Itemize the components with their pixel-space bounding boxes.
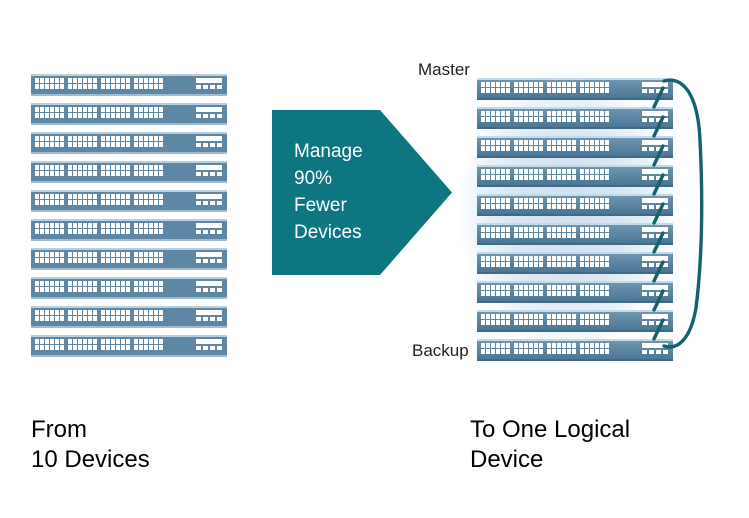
switch-port	[539, 291, 543, 296]
switch-port	[552, 320, 556, 325]
switch-port	[572, 169, 576, 174]
switch-port	[149, 223, 153, 228]
switch-port	[539, 111, 543, 116]
switch-port	[580, 140, 584, 145]
switch-port	[547, 262, 551, 267]
switch-port	[501, 262, 505, 267]
switch-port-group	[35, 339, 64, 350]
switch-port	[55, 345, 59, 350]
caption-from-10-devices: From 10 Devices	[31, 415, 150, 475]
switch-port	[45, 165, 49, 170]
switch-uplink-port	[656, 263, 661, 267]
switch-status-bar	[196, 78, 222, 83]
switch-port	[40, 84, 44, 89]
switch-port	[121, 223, 125, 228]
switch-uplink-module	[642, 227, 668, 238]
switch-port	[552, 82, 556, 87]
switch-uplink-module	[196, 136, 222, 147]
switch-port	[93, 107, 97, 112]
switch-port	[35, 142, 39, 147]
switch-status-bar	[196, 165, 222, 170]
switch-port	[101, 107, 105, 112]
switch-port	[126, 142, 130, 147]
switch-port-group	[481, 169, 510, 180]
switch-port	[486, 256, 490, 261]
switch-port	[501, 227, 505, 232]
switch-port	[134, 223, 138, 228]
switch-port	[501, 233, 505, 238]
switch-port	[83, 200, 87, 205]
switch-port	[534, 285, 538, 290]
switch-port	[101, 113, 105, 118]
switch-port	[486, 146, 490, 151]
switch-port	[506, 146, 510, 151]
switch-port	[139, 287, 143, 292]
switch-port	[35, 136, 39, 141]
switch-port	[73, 142, 77, 147]
switch-port	[529, 233, 533, 238]
switch-port	[106, 142, 110, 147]
switch-port-group	[514, 227, 543, 238]
switch-port	[496, 198, 500, 203]
switch-port	[60, 78, 64, 83]
switch-port	[68, 287, 72, 292]
switch-port-group	[134, 252, 163, 263]
switch-port	[50, 252, 54, 257]
switch-uplink-port	[656, 89, 661, 93]
switch-port	[595, 198, 599, 203]
switch-port	[78, 165, 82, 170]
switch-port	[590, 88, 594, 93]
switch-port	[580, 227, 584, 232]
switch-port	[106, 316, 110, 321]
switch-uplink-port	[203, 201, 208, 205]
switch-port	[524, 285, 528, 290]
switch-uplink-port	[210, 346, 215, 350]
switch-port	[139, 78, 143, 83]
switch-uplink-port	[649, 321, 654, 325]
switch-port	[154, 316, 158, 321]
switch-port	[514, 262, 518, 267]
switch-port	[572, 175, 576, 180]
switch-port	[562, 198, 566, 203]
switch-port	[539, 169, 543, 174]
switch-port	[126, 310, 130, 315]
switch-port	[144, 78, 148, 83]
switch-port	[139, 142, 143, 147]
switch-uplink-ports	[196, 85, 222, 89]
switch-port	[514, 314, 518, 319]
switch-port-array	[481, 198, 609, 209]
switch-port	[590, 82, 594, 87]
switch-uplink-ports	[642, 321, 668, 325]
switch-port	[126, 84, 130, 89]
switch-port	[524, 175, 528, 180]
switch-port	[45, 229, 49, 234]
switch-uplink-port	[210, 259, 215, 263]
switch-port	[481, 82, 485, 87]
switch-port	[585, 233, 589, 238]
switch-port	[557, 233, 561, 238]
switch-uplink-port	[203, 85, 208, 89]
switch-port	[486, 117, 490, 122]
switch-port	[60, 107, 64, 112]
switch-port	[111, 200, 115, 205]
switch-port	[600, 175, 604, 180]
switch-port-group	[68, 310, 97, 321]
switch-port	[45, 258, 49, 263]
switch-port	[519, 291, 523, 296]
switch-port	[585, 111, 589, 116]
switch-port	[149, 136, 153, 141]
switch-port	[60, 252, 64, 257]
switch-port	[149, 339, 153, 344]
switch-port	[126, 281, 130, 286]
switch-uplink-ports	[642, 118, 668, 122]
switch-port	[55, 194, 59, 199]
switch-port	[567, 227, 571, 232]
switch-port	[590, 320, 594, 325]
switch-port	[585, 140, 589, 145]
switch-port	[134, 345, 138, 350]
switch-port	[595, 146, 599, 151]
switch-uplink-port	[642, 263, 647, 267]
switch-port-group	[68, 78, 97, 89]
switch-port	[534, 233, 538, 238]
switch-port	[78, 258, 82, 263]
switch-port	[134, 229, 138, 234]
switch-port	[50, 287, 54, 292]
switch-port	[529, 169, 533, 174]
switch-port	[88, 113, 92, 118]
switch-port	[88, 252, 92, 257]
switch-port	[547, 314, 551, 319]
switch-uplink-port	[656, 147, 661, 151]
switch-port	[73, 258, 77, 263]
switch-port	[55, 258, 59, 263]
switch-port	[552, 227, 556, 232]
switch-uplink-module	[642, 256, 668, 267]
network-switch-8	[477, 281, 673, 303]
switch-port	[562, 291, 566, 296]
switch-port	[121, 281, 125, 286]
switch-port	[501, 320, 505, 325]
switch-port	[567, 320, 571, 325]
switch-port	[481, 291, 485, 296]
switch-uplink-port	[663, 350, 668, 354]
switch-port	[126, 223, 130, 228]
switch-port	[481, 175, 485, 180]
switch-port	[529, 314, 533, 319]
switch-port-array	[481, 140, 609, 151]
switch-port	[562, 82, 566, 87]
switch-port	[529, 146, 533, 151]
switch-port	[534, 198, 538, 203]
switch-port	[501, 314, 505, 319]
switch-port	[106, 229, 110, 234]
switch-port	[572, 227, 576, 232]
switch-port	[605, 320, 609, 325]
switch-port	[557, 146, 561, 151]
switch-port-group	[514, 111, 543, 122]
switch-port-group	[481, 198, 510, 209]
switch-port	[605, 349, 609, 354]
switch-port-group	[481, 314, 510, 325]
switch-port	[83, 78, 87, 83]
switch-port	[154, 136, 158, 141]
switch-port	[50, 345, 54, 350]
switch-port	[68, 171, 72, 176]
switch-port	[154, 113, 158, 118]
switch-port-group	[68, 136, 97, 147]
switch-port	[481, 204, 485, 209]
switch-port	[547, 233, 551, 238]
switch-port	[45, 200, 49, 205]
switch-port	[68, 107, 72, 112]
switch-port	[557, 320, 561, 325]
switch-port	[496, 262, 500, 267]
switch-port	[506, 88, 510, 93]
switch-port	[501, 140, 505, 145]
switch-port	[35, 194, 39, 199]
switch-port	[45, 345, 49, 350]
switch-port	[547, 256, 551, 261]
switch-port	[524, 291, 528, 296]
switch-port	[50, 78, 54, 83]
switch-uplink-ports	[196, 230, 222, 234]
switch-port	[529, 111, 533, 116]
switch-port	[524, 198, 528, 203]
switch-port	[73, 223, 77, 228]
switch-uplink-port	[196, 172, 201, 176]
switch-port	[88, 345, 92, 350]
switch-port	[547, 320, 551, 325]
switch-port	[572, 111, 576, 116]
switch-port	[134, 113, 138, 118]
switch-uplink-port	[663, 263, 668, 267]
switch-port-group	[514, 169, 543, 180]
arrow-label: Manage 90% Fewer Devices	[294, 138, 363, 246]
switch-uplink-ports	[642, 263, 668, 267]
switch-port	[547, 175, 551, 180]
switch-uplink-port	[203, 172, 208, 176]
switch-port	[111, 171, 115, 176]
switch-port	[600, 291, 604, 296]
switch-port	[567, 117, 571, 122]
switch-port	[529, 349, 533, 354]
switch-port	[491, 146, 495, 151]
switch-port	[529, 88, 533, 93]
switch-port	[605, 140, 609, 145]
switch-port	[55, 281, 59, 286]
switch-port	[481, 285, 485, 290]
switch-port	[600, 285, 604, 290]
switch-port-array	[481, 169, 609, 180]
switch-port	[506, 256, 510, 261]
switch-port	[35, 171, 39, 176]
switch-port	[55, 165, 59, 170]
switch-port	[595, 169, 599, 174]
switch-port	[552, 262, 556, 267]
switch-port	[83, 316, 87, 321]
switch-port	[506, 204, 510, 209]
switch-port	[580, 349, 584, 354]
switch-port	[595, 256, 599, 261]
switch-port	[501, 343, 505, 348]
switch-port	[600, 349, 604, 354]
switch-port	[481, 227, 485, 232]
switch-port	[567, 343, 571, 348]
switch-port	[590, 117, 594, 122]
switch-port-array	[481, 227, 609, 238]
switch-port	[491, 204, 495, 209]
switch-port-group	[481, 140, 510, 151]
switch-uplink-ports	[642, 292, 668, 296]
switch-port	[121, 200, 125, 205]
switch-status-bar	[642, 285, 668, 290]
switch-port	[585, 198, 589, 203]
switch-port	[562, 256, 566, 261]
switch-port-group	[547, 314, 576, 325]
switch-port	[562, 285, 566, 290]
switch-port	[126, 258, 130, 263]
switch-port	[585, 227, 589, 232]
switch-port	[139, 113, 143, 118]
switch-uplink-port	[642, 234, 647, 238]
switch-port	[159, 223, 163, 228]
switch-uplink-module	[642, 285, 668, 296]
switch-port	[134, 107, 138, 112]
switch-port	[590, 314, 594, 319]
switch-port	[524, 169, 528, 174]
switch-port	[514, 88, 518, 93]
switch-port	[78, 339, 82, 344]
switch-port	[519, 88, 523, 93]
switch-port	[496, 349, 500, 354]
switch-port	[580, 146, 584, 151]
switch-port	[595, 285, 599, 290]
switch-port	[126, 252, 130, 257]
switch-port	[600, 111, 604, 116]
switch-port	[88, 200, 92, 205]
switch-port	[572, 314, 576, 319]
switch-port	[60, 229, 64, 234]
switch-port	[149, 200, 153, 205]
switch-port	[83, 136, 87, 141]
switch-port	[50, 165, 54, 170]
switch-port	[139, 310, 143, 315]
switch-port	[35, 113, 39, 118]
switch-port-group	[547, 198, 576, 209]
switch-port	[572, 198, 576, 203]
switch-uplink-port	[656, 234, 661, 238]
switch-port	[595, 314, 599, 319]
switch-port	[68, 229, 72, 234]
switch-uplink-port	[217, 172, 222, 176]
switch-port	[590, 140, 594, 145]
switch-port	[144, 252, 148, 257]
switch-uplink-port	[203, 288, 208, 292]
switch-port	[580, 285, 584, 290]
switch-port	[154, 107, 158, 112]
switch-port-group	[547, 256, 576, 267]
switch-port	[88, 223, 92, 228]
switch-port	[134, 136, 138, 141]
switch-uplink-port	[649, 350, 654, 354]
switch-port	[529, 262, 533, 267]
switch-port	[481, 262, 485, 267]
switch-uplink-port	[663, 234, 668, 238]
switch-port	[585, 262, 589, 267]
switch-port	[534, 262, 538, 267]
switch-port	[585, 169, 589, 174]
switch-port	[572, 256, 576, 261]
network-switch-7	[31, 248, 227, 270]
switch-uplink-port	[649, 89, 654, 93]
network-switch-3	[31, 132, 227, 154]
switch-port	[101, 287, 105, 292]
switch-port-array	[481, 256, 609, 267]
switch-port	[154, 78, 158, 83]
switch-port	[83, 107, 87, 112]
switch-port	[68, 136, 72, 141]
switch-port	[45, 78, 49, 83]
switch-port	[605, 117, 609, 122]
switch-port	[154, 339, 158, 344]
switch-uplink-module	[196, 281, 222, 292]
network-switch-10	[477, 339, 673, 361]
switch-port	[562, 343, 566, 348]
switch-port	[93, 171, 97, 176]
switch-port	[144, 171, 148, 176]
switch-port	[111, 107, 115, 112]
switch-port	[524, 140, 528, 145]
switch-uplink-port	[217, 230, 222, 234]
switch-port	[595, 82, 599, 87]
switch-port	[572, 343, 576, 348]
switch-port	[580, 175, 584, 180]
switch-port	[481, 349, 485, 354]
switch-port	[481, 314, 485, 319]
switch-port	[73, 281, 77, 286]
switch-uplink-port	[196, 201, 201, 205]
switch-port	[519, 140, 523, 145]
switch-port	[567, 314, 571, 319]
switch-port	[144, 200, 148, 205]
switch-port	[547, 343, 551, 348]
switch-port	[539, 262, 543, 267]
switch-port	[126, 316, 130, 321]
switch-uplink-port	[210, 317, 215, 321]
switch-port	[491, 291, 495, 296]
switch-port	[552, 198, 556, 203]
switch-port	[83, 287, 87, 292]
diagram-canvas: Manage 90% Fewer Devices Master Backup F…	[0, 0, 749, 518]
caption-to-one-logical-device: To One Logical Device	[470, 415, 630, 475]
switch-port	[111, 142, 115, 147]
switch-port	[55, 84, 59, 89]
switch-port	[501, 349, 505, 354]
switch-port-group	[481, 343, 510, 354]
switch-uplink-port	[642, 321, 647, 325]
switch-port	[491, 88, 495, 93]
switch-port	[552, 146, 556, 151]
switch-port	[149, 84, 153, 89]
switch-port	[567, 291, 571, 296]
switch-uplink-port	[196, 259, 201, 263]
switch-port	[600, 233, 604, 238]
switch-port	[534, 343, 538, 348]
